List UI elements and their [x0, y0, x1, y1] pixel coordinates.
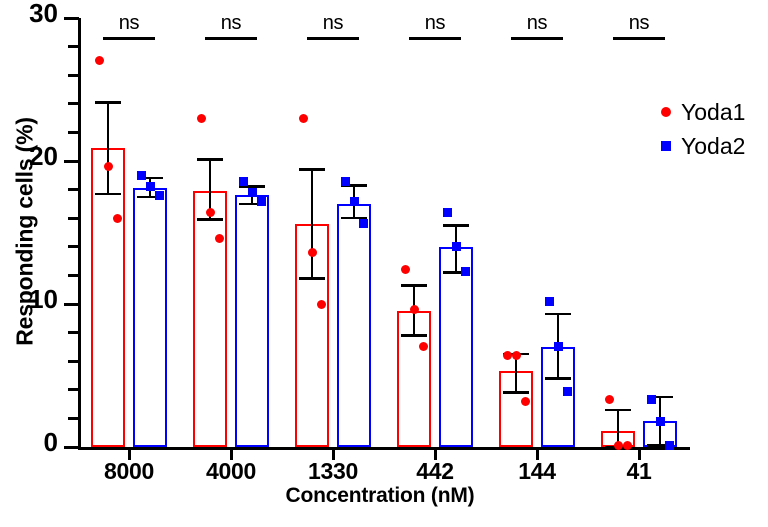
bar-yoda2-442 [439, 247, 473, 447]
x-axis-line [78, 447, 690, 450]
significance-label: ns [94, 12, 164, 35]
chart-canvas: Responding cells (%) Concentration (nM) … [0, 0, 768, 527]
error-bar-cap [605, 409, 631, 412]
significance-bracket [307, 37, 359, 40]
significance-label: ns [604, 12, 674, 35]
circle-marker-icon [655, 107, 677, 117]
error-bar-cap [443, 224, 469, 227]
error-bar-cap [95, 101, 121, 104]
error-bar-cap [503, 391, 529, 394]
significance-bracket [205, 37, 257, 40]
data-point [317, 300, 326, 309]
data-point [605, 395, 614, 404]
data-point [104, 162, 113, 171]
error-bar-cap [299, 168, 325, 171]
data-point [647, 395, 656, 404]
data-point [215, 234, 224, 243]
y-axis-tick-label: 0 [0, 429, 58, 455]
data-point [503, 351, 512, 360]
data-point [95, 56, 104, 65]
x-axis-title: Concentration (nM) [70, 484, 690, 508]
square-marker-icon [655, 141, 677, 151]
data-point [155, 191, 164, 200]
data-point [443, 208, 452, 217]
bar-yoda2-1330 [337, 204, 371, 447]
legend: Yoda1 Yoda2 [655, 95, 745, 163]
data-point [554, 342, 563, 351]
error-bar [311, 170, 314, 279]
data-point [350, 197, 359, 206]
significance-label: ns [502, 12, 572, 35]
data-point [257, 197, 266, 206]
data-point [461, 267, 470, 276]
data-point [248, 188, 257, 197]
error-bar-cap [299, 277, 325, 280]
legend-item-yoda1[interactable]: Yoda1 [655, 95, 745, 129]
data-point [113, 214, 122, 223]
error-bar-cap [401, 284, 427, 287]
data-point [614, 441, 623, 450]
error-bar-cap [197, 158, 223, 161]
data-point [137, 171, 146, 180]
legend-item-yoda2[interactable]: Yoda2 [655, 129, 745, 163]
data-point [206, 208, 215, 217]
y-axis-major-tick [64, 17, 79, 20]
error-bar-cap [545, 313, 571, 316]
data-point [299, 114, 308, 123]
data-point [401, 265, 410, 274]
data-point [419, 342, 428, 351]
x-axis-tick-label: 41 [579, 458, 699, 485]
y-axis-major-tick [64, 303, 79, 306]
data-point [410, 305, 419, 314]
data-point [146, 182, 155, 191]
data-point [521, 397, 530, 406]
significance-label: ns [298, 12, 368, 35]
data-point [308, 248, 317, 257]
y-axis-tick-label: 30 [0, 0, 58, 26]
data-point [665, 441, 674, 450]
data-point [563, 387, 572, 396]
significance-label: ns [196, 12, 266, 35]
error-bar-cap [545, 377, 571, 380]
error-bar-cap [95, 193, 121, 196]
significance-bracket [511, 37, 563, 40]
data-point [512, 351, 521, 360]
y-axis-major-tick [64, 160, 79, 163]
data-point [545, 297, 554, 306]
data-point [197, 114, 206, 123]
y-axis-major-tick [64, 446, 79, 449]
data-point [359, 219, 368, 228]
bar-yoda1-4000 [193, 191, 227, 447]
y-axis-tick-label: 10 [0, 286, 58, 312]
data-point [239, 177, 248, 186]
data-point [623, 441, 632, 450]
significance-bracket [103, 37, 155, 40]
bar-yoda2-4000 [235, 195, 269, 447]
significance-label: ns [400, 12, 470, 35]
data-point [656, 417, 665, 426]
legend-label: Yoda2 [681, 133, 745, 160]
significance-bracket [613, 37, 665, 40]
data-point [452, 242, 461, 251]
y-axis-title: Responding cells (%) [12, 62, 39, 402]
error-bar [107, 102, 110, 194]
plot-area [78, 18, 690, 447]
error-bar-cap [197, 218, 223, 221]
significance-bracket [409, 37, 461, 40]
legend-label: Yoda1 [681, 99, 745, 126]
bar-yoda2-8000 [133, 188, 167, 447]
data-point [341, 177, 350, 186]
error-bar-cap [401, 334, 427, 337]
y-axis-tick-label: 20 [0, 143, 58, 169]
